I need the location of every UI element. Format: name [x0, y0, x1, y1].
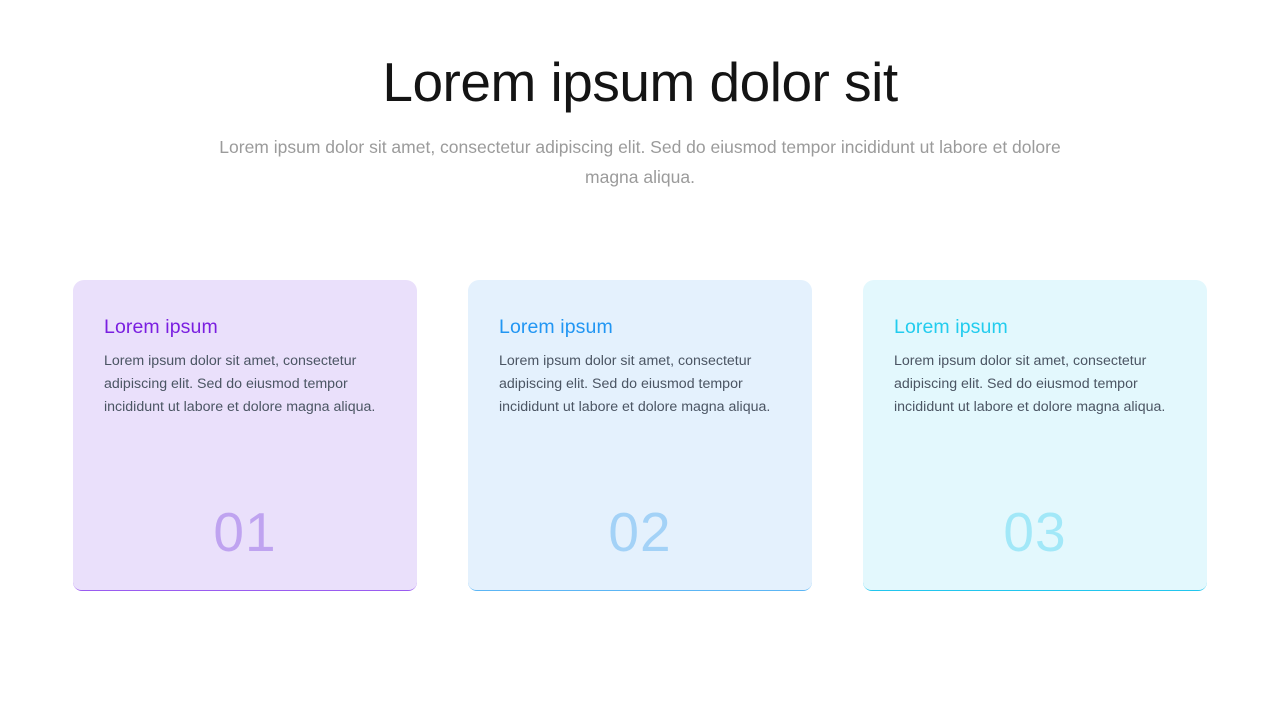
card-title: Lorem ipsum	[499, 314, 781, 340]
card-surface[interactable]: Lorem ipsum Lorem ipsum dolor sit amet, …	[73, 280, 417, 590]
card-description: Lorem ipsum dolor sit amet, consectetur …	[894, 350, 1176, 420]
card-description: Lorem ipsum dolor sit amet, consectetur …	[104, 350, 386, 420]
page-subtitle: Lorem ipsum dolor sit amet, consectetur …	[200, 132, 1080, 192]
card-title: Lorem ipsum	[104, 314, 386, 340]
page-title: Lorem ipsum dolor sit	[0, 48, 1280, 116]
slide-header: Lorem ipsum dolor sit Lorem ipsum dolor …	[0, 48, 1280, 192]
card-item[interactable]: Lorem ipsum Lorem ipsum dolor sit amet, …	[863, 280, 1207, 590]
card-surface[interactable]: Lorem ipsum Lorem ipsum dolor sit amet, …	[468, 280, 812, 590]
card-description: Lorem ipsum dolor sit amet, consectetur …	[499, 350, 781, 420]
card-item[interactable]: Lorem ipsum Lorem ipsum dolor sit amet, …	[468, 280, 812, 590]
card-number: 01	[73, 502, 417, 562]
cards-row: Lorem ipsum Lorem ipsum dolor sit amet, …	[73, 280, 1207, 590]
card-surface[interactable]: Lorem ipsum Lorem ipsum dolor sit amet, …	[863, 280, 1207, 590]
card-number: 02	[468, 502, 812, 562]
card-title: Lorem ipsum	[894, 314, 1176, 340]
card-number: 03	[863, 502, 1207, 562]
slide-root: Lorem ipsum dolor sit Lorem ipsum dolor …	[0, 0, 1280, 720]
card-item[interactable]: Lorem ipsum Lorem ipsum dolor sit amet, …	[73, 280, 417, 590]
